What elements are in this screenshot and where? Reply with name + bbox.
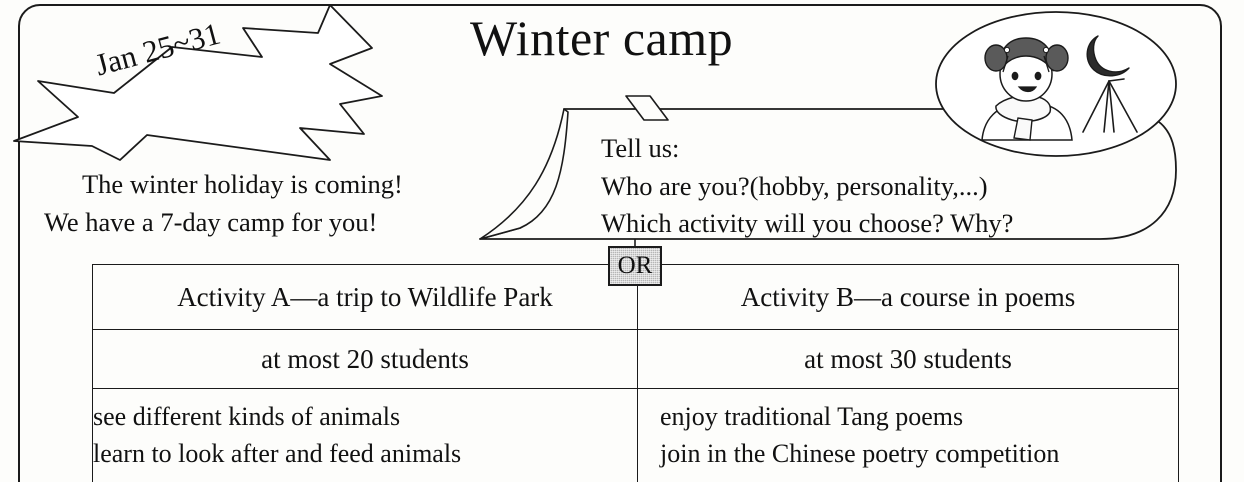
activity-a-detail-1: see different kinds of animals xyxy=(93,399,637,436)
activity-a-detail-2: learn to look after and feed animals xyxy=(93,436,637,473)
bubble-line-2: Who are you?(hobby, personality,...) xyxy=(601,168,1141,206)
bubble-line-3: Which activity will you choose? Why? xyxy=(601,205,1141,243)
or-badge: OR xyxy=(608,246,662,286)
activity-a-header: Activity A—a trip to Wildlife Park xyxy=(93,265,638,330)
page-title: Winter camp xyxy=(470,12,890,64)
activity-table: Activity A—a trip to Wildlife Park Activ… xyxy=(92,264,1179,482)
activity-b-detail-2: join in the Chinese poetry competition xyxy=(660,436,1178,473)
promo-line-2: We have a 7-day camp for you! xyxy=(44,204,494,242)
bubble-questions: Tell us: Who are you?(hobby, personality… xyxy=(601,130,1141,243)
activity-a-capacity: at most 20 students xyxy=(93,330,638,389)
activity-b-detail-1: enjoy traditional Tang poems xyxy=(660,399,1178,436)
activity-b-header: Activity B—a course in poems xyxy=(638,265,1179,330)
promo-line-1: The winter holiday is coming! xyxy=(44,166,494,204)
worksheet-poster: Winter camp Jan 25~31 The winter holiday… xyxy=(0,0,1244,482)
table-row-capacity: at most 20 students at most 30 students xyxy=(93,330,1179,389)
activity-b-details: enjoy traditional Tang poems join in the… xyxy=(638,389,1179,482)
bubble-line-1: Tell us: xyxy=(601,130,1141,168)
promo-paragraph: The winter holiday is coming! We have a … xyxy=(44,166,494,241)
activity-a-details: see different kinds of animals learn to … xyxy=(93,389,638,482)
table-row-details: see different kinds of animals learn to … xyxy=(93,389,1179,482)
activity-b-capacity: at most 30 students xyxy=(638,330,1179,389)
